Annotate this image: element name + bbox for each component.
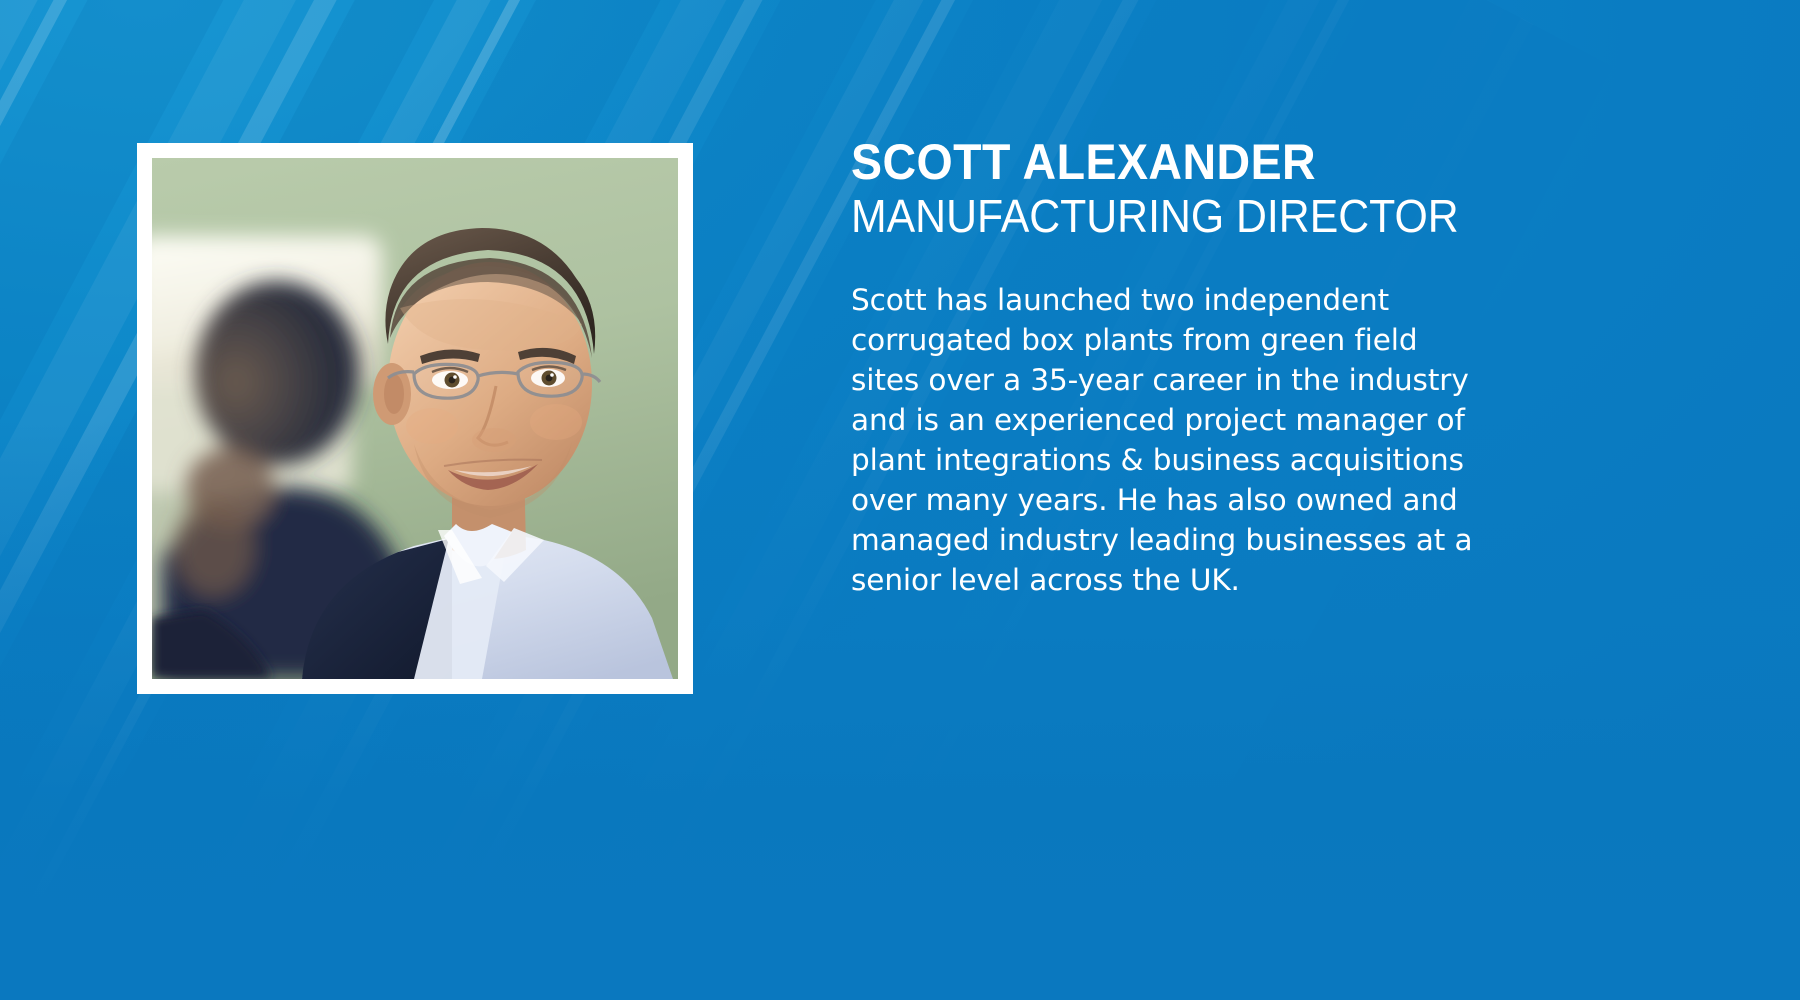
- person-role: MANUFACTURING DIRECTOR: [851, 192, 1483, 240]
- profile-text-column: SCOTT ALEXANDER MANUFACTURING DIRECTOR S…: [851, 137, 1531, 600]
- page-title: SCOTT ALEXANDER: [851, 137, 1483, 188]
- profile-photo: [152, 158, 678, 679]
- portrait-illustration: [152, 158, 678, 679]
- person-bio: Scott has launched two independent corru…: [851, 280, 1491, 600]
- profile-photo-frame: [137, 143, 693, 694]
- profile-slide: SCOTT ALEXANDER MANUFACTURING DIRECTOR S…: [0, 0, 1800, 1000]
